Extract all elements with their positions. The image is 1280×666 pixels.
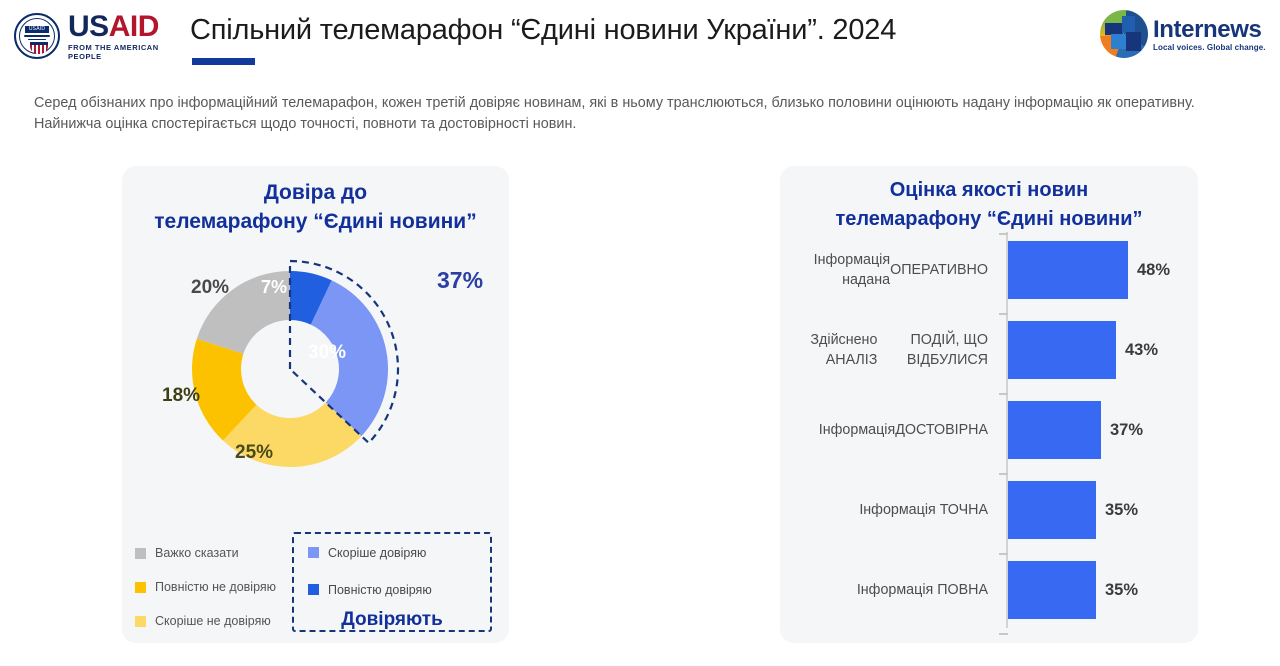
bar-chart-row: Інформація наданаОПЕРАТИВНО48% — [794, 230, 1186, 310]
usaid-seal-icon: USAID — [14, 13, 60, 59]
internews-wordmark: Internews — [1153, 17, 1266, 42]
bar-value-label: 35% — [1105, 470, 1138, 550]
internews-logo: Internews Local voices. Global change. — [1100, 8, 1270, 60]
legend-swatch-rather-distrust — [135, 616, 146, 627]
donut-total-trust-value: 37% — [437, 267, 483, 294]
internews-globe-icon — [1100, 10, 1148, 58]
donut-chart-title: Довіра до телемарафону “Єдині новини” — [122, 178, 509, 236]
bar-chart-title: Оцінка якості новин телемарафону “Єдині … — [780, 176, 1198, 234]
page-title: Спільний телемарафон “Єдині новини Украї… — [190, 14, 896, 47]
donut-value-fully-distrust: 18% — [162, 385, 200, 407]
bar-chart-row: Здійснено АНАЛІЗПОДІЙ, ЩО ВІДБУЛИСЯ43% — [794, 310, 1186, 390]
bar-category-label: Здійснено АНАЛІЗПОДІЙ, ЩО ВІДБУЛИСЯ — [794, 310, 996, 390]
legend-swatch-fully-trust — [308, 584, 319, 595]
bar-category-label: Інформація ПОВНА — [794, 550, 996, 630]
legend-swatch-hard-to-say — [135, 548, 146, 559]
donut-value-hard-to-say: 20% — [191, 277, 229, 299]
bar-value-label: 43% — [1125, 310, 1158, 390]
bar-chart-row: Інформація ПОВНА35% — [794, 550, 1186, 630]
donut-value-rather-trust: 30% — [308, 342, 346, 364]
slide: USAID USAID FROM THE AMERICAN PEOPLE Спі… — [0, 0, 1280, 666]
donut-legend-distrust-group: Важко сказати Повністю не довіряю Скоріш… — [135, 536, 276, 638]
title-underline-rule — [192, 58, 255, 65]
bar[interactable] — [1008, 561, 1096, 619]
donut-value-rather-distrust: 25% — [235, 442, 273, 464]
usaid-tagline: FROM THE AMERICAN PEOPLE — [68, 43, 180, 61]
bar-chart: Інформація наданаОПЕРАТИВНО48%Здійснено … — [794, 228, 1186, 632]
usaid-wordmark: USAID FROM THE AMERICAN PEOPLE — [68, 12, 180, 61]
bar-value-label: 37% — [1110, 390, 1143, 470]
usaid-seal-band-text: USAID — [25, 26, 49, 33]
donut-legend-trust-group: Скоріше довіряю Повністю довіряю Довіряю… — [292, 532, 492, 632]
news-quality-bar-panel: Оцінка якості новин телемарафону “Єдині … — [780, 166, 1198, 643]
slide-summary-text: Серед обізнаних про інформаційний телема… — [34, 93, 1259, 135]
bar-axis-tick — [999, 633, 1008, 635]
internews-tagline: Local voices. Global change. — [1153, 43, 1266, 52]
bar[interactable] — [1008, 241, 1128, 299]
legend-item-hard-to-say[interactable]: Важко сказати — [135, 536, 276, 570]
usaid-wordmark-us: US — [68, 10, 109, 43]
trust-donut-panel: Довіра до телемарафону “Єдині новини” 7%… — [122, 166, 509, 643]
bar-chart-row: Інформація ТОЧНА35% — [794, 470, 1186, 550]
legend-item-fully-trust[interactable]: Повністю довіряю — [294, 571, 490, 608]
bar-category-label: Інформація ТОЧНА — [794, 470, 996, 550]
legend-item-rather-trust[interactable]: Скоріше довіряю — [294, 534, 490, 571]
donut-value-fully-trust: 7% — [261, 277, 287, 298]
legend-swatch-fully-distrust — [135, 582, 146, 593]
legend-item-fully-distrust[interactable]: Повністю не довіряю — [135, 570, 276, 604]
bar[interactable] — [1008, 401, 1101, 459]
bar-value-label: 35% — [1105, 550, 1138, 630]
bar[interactable] — [1008, 481, 1096, 539]
slide-header: USAID USAID FROM THE AMERICAN PEOPLE Спі… — [0, 0, 1280, 80]
bar[interactable] — [1008, 321, 1116, 379]
bar-chart-row: ІнформаціяДОСТОВІРНА37% — [794, 390, 1186, 470]
legend-item-rather-distrust[interactable]: Скоріше не довіряю — [135, 604, 276, 638]
bar-value-label: 48% — [1137, 230, 1170, 310]
legend-swatch-rather-trust — [308, 547, 319, 558]
donut-legend: Важко сказати Повністю не довіряю Скоріш… — [130, 532, 502, 636]
trust-group-caption: Довіряють — [294, 609, 490, 631]
usaid-logo: USAID USAID FROM THE AMERICAN PEOPLE — [14, 10, 180, 62]
bar-category-label: ІнформаціяДОСТОВІРНА — [794, 390, 996, 470]
usaid-wordmark-aid: AID — [109, 10, 159, 43]
bar-category-label: Інформація наданаОПЕРАТИВНО — [794, 230, 996, 310]
donut-chart: 7% 30% 25% 18% 20% 37% — [135, 234, 495, 504]
